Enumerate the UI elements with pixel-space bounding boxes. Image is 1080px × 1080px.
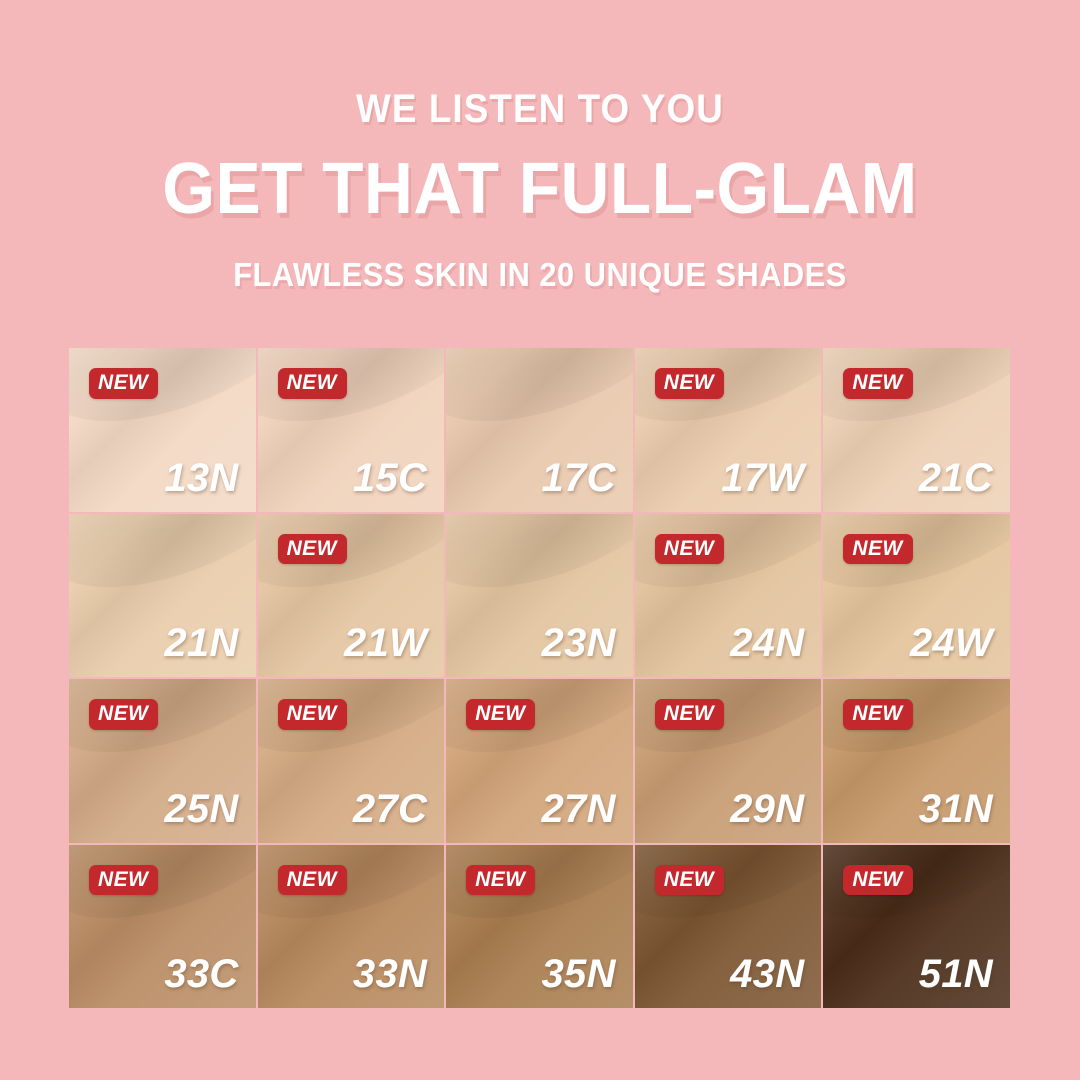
- shade-code-label: 15C: [353, 458, 427, 498]
- shade-swatch[interactable]: 17C: [446, 348, 633, 512]
- shade-code-label: 24N: [730, 623, 804, 663]
- new-badge: NEW: [89, 865, 158, 896]
- shade-code-label: 21N: [164, 623, 238, 663]
- shade-code-label: 25N: [164, 789, 238, 829]
- shade-swatch[interactable]: NEW27C: [258, 679, 445, 843]
- shade-code-label: 27N: [542, 789, 616, 829]
- new-badge: NEW: [278, 865, 347, 896]
- shade-code-label: 29N: [730, 789, 804, 829]
- shade-swatch-grid: NEW13NNEW15C17CNEW17WNEW21C21NNEW21W23NN…: [69, 348, 1010, 1008]
- shade-code-label: 33C: [164, 954, 238, 994]
- shade-code-label: 23N: [542, 623, 616, 663]
- shade-code-label: 17W: [721, 458, 804, 498]
- shade-code-label: 27C: [353, 789, 427, 829]
- shade-swatch[interactable]: NEW21C: [823, 348, 1010, 512]
- shade-code-label: 43N: [730, 954, 804, 994]
- new-badge: NEW: [655, 699, 724, 730]
- subtitle-text: FLAWLESS SKIN IN 20 UNIQUE SHADES: [38, 258, 1042, 293]
- shade-code-label: 21C: [919, 458, 993, 498]
- eyebrow-text: WE LISTEN TO YOU: [43, 88, 1037, 130]
- shade-swatch[interactable]: NEW17W: [635, 348, 822, 512]
- new-badge: NEW: [843, 368, 912, 399]
- new-badge: NEW: [655, 534, 724, 565]
- new-badge: NEW: [278, 534, 347, 565]
- page-title: GET THAT FULL-GLAM: [32, 152, 1047, 228]
- shade-code-label: 21W: [344, 623, 427, 663]
- shade-swatch[interactable]: 21N: [69, 514, 256, 678]
- shade-code-label: 35N: [542, 954, 616, 994]
- shade-swatch[interactable]: NEW35N: [446, 845, 633, 1009]
- shade-swatch[interactable]: NEW25N: [69, 679, 256, 843]
- shade-code-label: 31N: [919, 789, 993, 829]
- promo-header: WE LISTEN TO YOU GET THAT FULL-GLAM FLAW…: [0, 0, 1080, 292]
- new-badge: NEW: [278, 699, 347, 730]
- shade-swatch[interactable]: 23N: [446, 514, 633, 678]
- shade-swatch[interactable]: NEW33N: [258, 845, 445, 1009]
- shade-swatch[interactable]: NEW33C: [69, 845, 256, 1009]
- new-badge: NEW: [89, 368, 158, 399]
- shade-swatch[interactable]: NEW27N: [446, 679, 633, 843]
- shade-swatch[interactable]: NEW31N: [823, 679, 1010, 843]
- new-badge: NEW: [655, 368, 724, 399]
- shade-code-label: 24W: [910, 623, 993, 663]
- new-badge: NEW: [466, 699, 535, 730]
- shade-swatch[interactable]: NEW29N: [635, 679, 822, 843]
- new-badge: NEW: [843, 534, 912, 565]
- shade-code-label: 13N: [164, 458, 238, 498]
- shade-swatch[interactable]: NEW15C: [258, 348, 445, 512]
- shade-code-label: 33N: [353, 954, 427, 994]
- shade-swatch[interactable]: NEW21W: [258, 514, 445, 678]
- shade-code-label: 17C: [542, 458, 616, 498]
- shade-swatch[interactable]: NEW24W: [823, 514, 1010, 678]
- new-badge: NEW: [843, 865, 912, 896]
- new-badge: NEW: [466, 865, 535, 896]
- shade-swatch[interactable]: NEW13N: [69, 348, 256, 512]
- shade-swatch[interactable]: NEW43N: [635, 845, 822, 1009]
- new-badge: NEW: [89, 699, 158, 730]
- new-badge: NEW: [278, 368, 347, 399]
- new-badge: NEW: [843, 699, 912, 730]
- new-badge: NEW: [655, 865, 724, 896]
- shade-swatch[interactable]: NEW24N: [635, 514, 822, 678]
- shade-code-label: 51N: [919, 954, 993, 994]
- shade-swatch[interactable]: NEW51N: [823, 845, 1010, 1009]
